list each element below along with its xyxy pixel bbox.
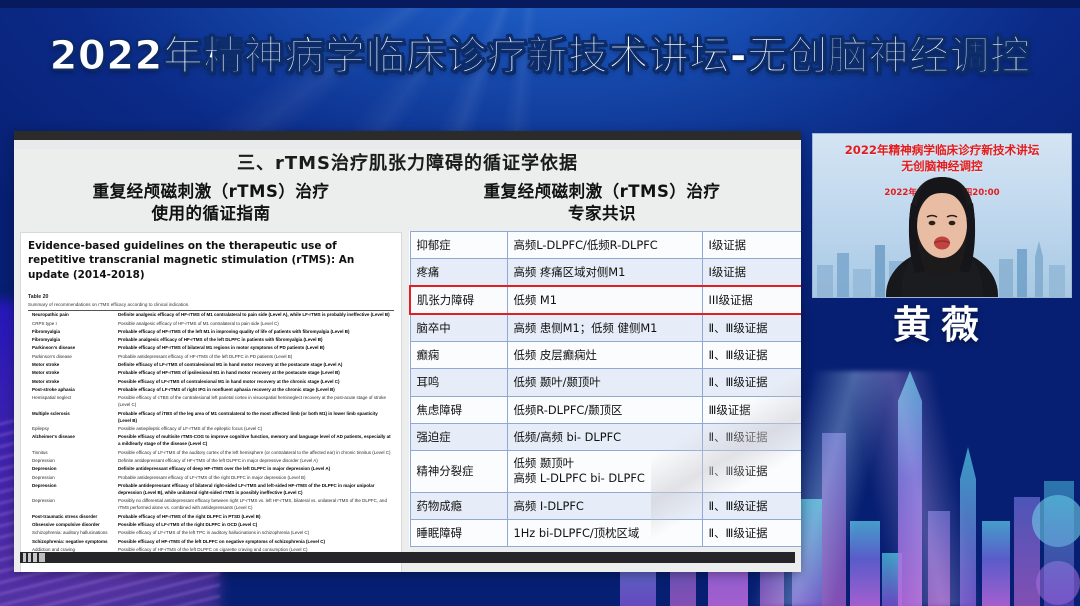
consensus-protocol-cell: 高频 I-DLPFC	[507, 492, 702, 519]
paper-table-row: CRPS type IPossible analgesic efficacy o…	[28, 319, 394, 327]
presentation-slide[interactable]: 三、rTMS治疗肌张力障碍的循证学依据 重复经颅磁刺激（rTMS）治疗 使用的循…	[14, 131, 801, 572]
paper-recommendation-cell: Probable efficacy of HF-rTMS of the left…	[118, 327, 394, 335]
slide-columns: 重复经颅磁刺激（rTMS）治疗 使用的循证指南 Evidence-based g…	[14, 177, 801, 572]
speaker-name: 黄薇	[812, 294, 1070, 349]
paper-indication-cell: Fibromyalgia	[28, 327, 118, 335]
paper-indication-cell: Motor stroke	[28, 377, 118, 385]
paper-table-row: Schizophrenia: auditory hallucinationsPo…	[28, 529, 394, 537]
paper-recommendation-cell: Probable antidepressant efficacy of HF-r…	[118, 352, 394, 360]
paper-table-row: FibromyalgiaProbable analgesic efficacy …	[28, 336, 394, 344]
paper-indication-cell: Alzheimer's disease	[28, 433, 118, 448]
paper-table-row: Schizophrenia: negative symptomsPossible…	[28, 537, 394, 545]
top-edge-bar	[0, 0, 1080, 8]
consensus-evidence-cell: Ⅱ、Ⅲ级证据	[702, 369, 801, 396]
consensus-evidence-cell: Ⅱ、Ⅲ级证据	[702, 451, 801, 493]
paper-table-row: Alzheimer's diseasePossible efficacy of …	[28, 433, 394, 448]
consensus-protocol-cell: 低频R-DLPFC/颞顶区	[507, 396, 702, 423]
consensus-evidence-cell: Ⅲ级证据	[702, 396, 801, 423]
paper-table-row: Multiple sclerosisProbable efficacy of i…	[28, 409, 394, 424]
paper-indication-cell: Parkinson's disease	[28, 344, 118, 352]
consensus-table-row: 癫痫低频 皮层癫痫灶Ⅱ、Ⅲ级证据	[410, 342, 801, 369]
video-overlay-title-line1: 2022年精神病学临床诊疗新技术讲坛	[813, 143, 1071, 159]
paper-table-row: Post-stroke aphasiaProbable efficacy of …	[28, 385, 394, 393]
paper-recommendation-cell: Possible efficacy of multisite rTMS-COG …	[118, 433, 394, 448]
header-bar: 2022年精神病学临床诊疗新技术讲坛-无创脑神经调控	[0, 8, 1080, 96]
consensus-indication-cell: 药物成瘾	[410, 492, 507, 519]
paper-recommendation-cell: Probable efficacy of HF-rTMS of the righ…	[118, 512, 394, 520]
paper-indication-cell: Depression	[28, 497, 118, 512]
paper-table-caption: Table 20	[28, 294, 394, 302]
page-title: 2022年精神病学临床诊疗新技术讲坛-无创脑神经调控	[50, 23, 1031, 81]
paper-table-row: DepressionDefinite antidepressant effica…	[28, 456, 394, 464]
slide-content: 三、rTMS治疗肌张力障碍的循证学依据 重复经颅磁刺激（rTMS）治疗 使用的循…	[14, 149, 801, 572]
paper-recommendation-table: Neuropathic painDefinite analgesic effic…	[28, 310, 394, 555]
slide-left-column: 重复经颅磁刺激（rTMS）治疗 使用的循证指南 Evidence-based g…	[20, 177, 402, 572]
speaker-avatar	[881, 169, 1003, 297]
consensus-evidence-cell: Ⅱ、Ⅲ级证据	[702, 314, 801, 342]
slide-section-title: 三、rTMS治疗肌张力障碍的循证学依据	[14, 149, 801, 175]
paper-recommendation-cell: Possible antiepileptic efficacy of LF-rT…	[118, 424, 394, 432]
paper-recommendation-cell: Possibly no differential antidepressant …	[118, 497, 394, 512]
paper-indication-cell: Parkinson's disease	[28, 352, 118, 360]
paper-indication-cell: Motor stroke	[28, 369, 118, 377]
consensus-table: 抑郁症高频L-DLPFC/低频R-DLPFCI级证据疼痛高频 疼痛区域对侧M1I…	[409, 231, 801, 548]
paper-table-row: Parkinson's diseaseProbable antidepressa…	[28, 352, 394, 360]
paper-indication-cell: Multiple sclerosis	[28, 409, 118, 424]
paper-recommendation-cell: Possible efficacy of HF-rTMS of the left…	[118, 537, 394, 545]
consensus-protocol-cell: 低频 颞叶/颞顶叶	[507, 369, 702, 396]
consensus-protocol-cell: 低频 颞顶叶高频 L-DLPFC bi- DLPFC	[507, 451, 702, 493]
consensus-table-row: 焦虑障碍低频R-DLPFC/颞顶区Ⅲ级证据	[410, 396, 801, 423]
paper-indication-cell: Depression	[28, 465, 118, 473]
paper-recommendation-cell: Probable efficacy of iTBS of the leg are…	[118, 409, 394, 424]
paper-recommendation-cell: Probable efficacy of HF-rTMS of ipsilesi…	[118, 369, 394, 377]
paper-table-row: Hemispatial neglectPossible efficacy of …	[28, 394, 394, 409]
paper-table-row: Parkinson's diseaseProbable efficacy of …	[28, 344, 394, 352]
consensus-indication-cell: 抑郁症	[410, 231, 507, 258]
slide-bottom-chrome	[20, 552, 795, 563]
paper-recommendation-cell: Possible analgesic efficacy of HF-rTMS o…	[118, 319, 394, 327]
consensus-protocol-cell: 高频 疼痛区域对侧M1	[507, 258, 702, 286]
paper-indication-cell: Neuropathic pain	[28, 310, 118, 319]
consensus-table-row: 肌张力障碍低频 M1III级证据	[410, 286, 801, 314]
consensus-table-row: 强迫症低频/高频 bi- DLPFCⅡ、Ⅲ级证据	[410, 423, 801, 450]
consensus-table-row: 睡眠障碍1Hz bi-DLPFC/顶枕区域Ⅱ、Ⅲ级证据	[410, 520, 801, 547]
consensus-table-row: 脑卒中高频 患侧M1；低频 健侧M1Ⅱ、Ⅲ级证据	[410, 314, 801, 342]
consensus-protocol-cell: 高频L-DLPFC/低频R-DLPFC	[507, 231, 702, 258]
paper-indication-cell: CRPS type I	[28, 319, 118, 327]
paper-title: Evidence-based guidelines on the therape…	[28, 239, 394, 283]
consensus-protocol-cell: 高频 患侧M1；低频 健侧M1	[507, 314, 702, 342]
consensus-indication-cell: 疼痛	[410, 258, 507, 286]
slide-top-chrome	[14, 131, 801, 140]
consensus-indication-cell: 睡眠障碍	[410, 520, 507, 547]
consensus-indication-cell: 癫痫	[410, 342, 507, 369]
consensus-evidence-cell: I级证据	[702, 231, 801, 258]
consensus-indication-cell: 耳鸣	[410, 369, 507, 396]
paper-recommendation-cell: Definite efficacy of LF-rTMS of contrale…	[118, 360, 394, 368]
paper-table-row: DepressionPossibly no differential antid…	[28, 497, 394, 512]
paper-table-row: Post-traumatic stress disorderProbable e…	[28, 512, 394, 520]
consensus-protocol-cell: 低频 皮层癫痫灶	[507, 342, 702, 369]
paper-recommendation-cell: Definite antidepressant efficacy of deep…	[118, 465, 394, 473]
paper-recommendation-cell: Definite antidepressant efficacy of HF-r…	[118, 456, 394, 464]
consensus-evidence-cell: Ⅱ、Ⅲ级证据	[702, 423, 801, 450]
paper-table-row: Motor strokeProbable efficacy of HF-rTMS…	[28, 369, 394, 377]
paper-recommendation-cell: Probable analgesic efficacy of HF-rTMS o…	[118, 336, 394, 344]
consensus-table-row: 药物成瘾高频 I-DLPFCⅡ、Ⅲ级证据	[410, 492, 801, 519]
paper-indication-cell: Schizophrenia: negative symptoms	[28, 537, 118, 545]
paper-recommendation-cell: Probable efficacy of HF-rTMS of bilatera…	[118, 344, 394, 352]
paper-table-row: FibromyalgiaProbable efficacy of HF-rTMS…	[28, 327, 394, 335]
paper-table-row: DepressionDefinite antidepressant effica…	[28, 465, 394, 473]
slide-right-column: 重复经颅磁刺激（rTMS）治疗 专家共识 抑郁症高频L-DLPFC/低频R-DL…	[402, 177, 795, 572]
paper-indication-cell: Hemispatial neglect	[28, 394, 118, 409]
paper-table-subcaption: Summary of recommendations on rTMS effic…	[28, 302, 394, 307]
consensus-evidence-cell: Ⅱ、Ⅲ级证据	[702, 342, 801, 369]
paper-recommendation-cell: Probable antidepressant efficacy of bila…	[118, 481, 394, 496]
paper-indication-cell: Post-traumatic stress disorder	[28, 512, 118, 520]
paper-table-row: Motor strokeDefinite efficacy of LF-rTMS…	[28, 360, 394, 368]
consensus-protocol-cell: 低频/高频 bi- DLPFC	[507, 423, 702, 450]
paper-indication-cell: Motor stroke	[28, 360, 118, 368]
paper-table-row: EpilepsyPossible antiepileptic efficacy …	[28, 424, 394, 432]
paper-indication-cell: Depression	[28, 456, 118, 464]
right-heading: 重复经颅磁刺激（rTMS）治疗 专家共识	[409, 181, 795, 225]
left-heading-line2: 使用的循证指南	[20, 203, 402, 225]
left-heading: 重复经颅磁刺激（rTMS）治疗 使用的循证指南	[20, 181, 402, 225]
paper-screenshot: Evidence-based guidelines on the therape…	[20, 232, 402, 572]
consensus-indication-cell: 焦虑障碍	[410, 396, 507, 423]
paper-indication-cell: Epilepsy	[28, 424, 118, 432]
slide-taskbar-icons	[23, 553, 45, 562]
paper-table-row: TinnitusPossible efficacy of LF-rTMS of …	[28, 448, 394, 456]
consensus-table-row: 抑郁症高频L-DLPFC/低频R-DLPFCI级证据	[410, 231, 801, 258]
consensus-evidence-cell: Ⅱ、Ⅲ级证据	[702, 520, 801, 547]
paper-table-row: Obsessive compulsive disorderPossible ef…	[28, 520, 394, 528]
left-heading-line1: 重复经颅磁刺激（rTMS）治疗	[20, 181, 402, 203]
paper-recommendation-cell: Possible efficacy of LF-rTMS of the left…	[118, 529, 394, 537]
consensus-indication-cell: 强迫症	[410, 423, 507, 450]
paper-table-row: DepressionProbable antidepressant effica…	[28, 473, 394, 481]
paper-indication-cell: Post-stroke aphasia	[28, 385, 118, 393]
consensus-indication-cell: 脑卒中	[410, 314, 507, 342]
paper-indication-cell: Depression	[28, 481, 118, 496]
paper-table-row: DepressionProbable antidepressant effica…	[28, 481, 394, 496]
paper-recommendation-cell: Possible efficacy of LF-rTMS of the audi…	[118, 448, 394, 456]
consensus-indication-cell: 精神分裂症	[410, 451, 507, 493]
paper-recommendation-cell: Possible efficacy of LF-rTMS of the righ…	[118, 520, 394, 528]
right-heading-line1: 重复经颅磁刺激（rTMS）治疗	[409, 181, 795, 203]
paper-indication-cell: Obsessive compulsive disorder	[28, 520, 118, 528]
paper-recommendation-cell: Possible efficacy of LF-rTMS of contrale…	[118, 377, 394, 385]
paper-indication-cell: Fibromyalgia	[28, 336, 118, 344]
consensus-table-row: 耳鸣低频 颞叶/颞顶叶Ⅱ、Ⅲ级证据	[410, 369, 801, 396]
consensus-protocol-cell: 1Hz bi-DLPFC/顶枕区域	[507, 520, 702, 547]
consensus-table-row: 疼痛高频 疼痛区域对侧M1I级证据	[410, 258, 801, 286]
paper-recommendation-cell: Definite analgesic efficacy of HF-rTMS o…	[118, 310, 394, 319]
consensus-evidence-cell: I级证据	[702, 258, 801, 286]
right-heading-line2: 专家共识	[409, 203, 795, 225]
consensus-table-row: 精神分裂症低频 颞顶叶高频 L-DLPFC bi- DLPFCⅡ、Ⅲ级证据	[410, 451, 801, 493]
consensus-evidence-cell: Ⅱ、Ⅲ级证据	[702, 492, 801, 519]
paper-indication-cell: Schizophrenia: auditory hallucinations	[28, 529, 118, 537]
speaker-video-panel[interactable]: 2022年精神病学临床诊疗新技术讲坛 无创脑神经调控 2022年4月21日 周四…	[812, 133, 1072, 298]
paper-recommendation-cell: Possible efficacy of cTBS of the contral…	[118, 394, 394, 409]
consensus-protocol-cell: 低频 M1	[507, 286, 702, 314]
paper-recommendation-cell: Probable antidepressant efficacy of LF-r…	[118, 473, 394, 481]
paper-recommendation-cell: Probable efficacy of LF-rTMS of right IF…	[118, 385, 394, 393]
screen: 2022年精神病学临床诊疗新技术讲坛-无创脑神经调控 三、rTMS治疗肌张力障碍…	[0, 0, 1080, 606]
paper-indication-cell: Tinnitus	[28, 448, 118, 456]
paper-table-row: Neuropathic painDefinite analgesic effic…	[28, 310, 394, 319]
consensus-indication-cell: 肌张力障碍	[410, 286, 507, 314]
paper-table-row: Motor strokePossible efficacy of LF-rTMS…	[28, 377, 394, 385]
paper-indication-cell: Depression	[28, 473, 118, 481]
consensus-evidence-cell: III级证据	[702, 286, 801, 314]
